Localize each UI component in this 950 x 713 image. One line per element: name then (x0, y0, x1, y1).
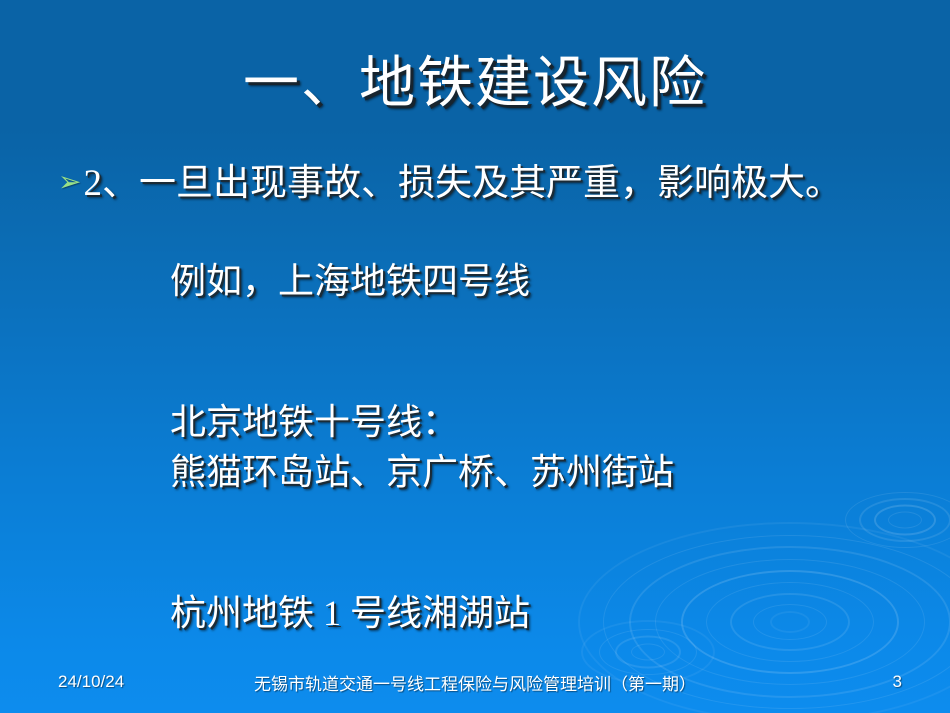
ripple-ring (631, 644, 665, 661)
example-line-4: 杭州地铁 1 号线湘湖站 (170, 593, 918, 634)
footer-page-number: 3 (893, 672, 902, 692)
example-line-2: 北京地铁十号线： (170, 402, 918, 443)
example-line-3: 熊猫环岛站、京广桥、苏州街站 (170, 452, 918, 493)
slide-footer: 24/10/24 无锡市轨道交通一号线工程保险与风险管理培训（第一期） 3 (0, 665, 950, 699)
bullet-item-text: 2、一旦出现事故、损失及其严重，影响极大。 (83, 163, 918, 205)
spacer (58, 205, 918, 261)
spacer (58, 302, 918, 358)
slide-body: ➢ 2、一旦出现事故、损失及其严重，影响极大。 例如，上海地铁四号线 北京地铁十… (58, 163, 918, 634)
ripple-ring (615, 636, 681, 669)
arrow-bullet-icon: ➢ (58, 163, 81, 202)
spacer (58, 549, 918, 593)
spacer (58, 493, 918, 549)
page-title: 一、地铁建设风险 (0, 52, 950, 116)
bullet-item: ➢ 2、一旦出现事故、损失及其严重，影响极大。 (58, 163, 918, 205)
spacer (58, 358, 918, 402)
presentation-slide: 一、地铁建设风险 ➢ 2、一旦出现事故、损失及其严重，影响极大。 例如，上海地铁… (0, 0, 950, 713)
example-line-1: 例如，上海地铁四号线 (170, 261, 918, 302)
footer-title: 无锡市轨道交通一号线工程保险与风险管理培训（第一期） (0, 670, 950, 695)
spacer (58, 444, 918, 452)
